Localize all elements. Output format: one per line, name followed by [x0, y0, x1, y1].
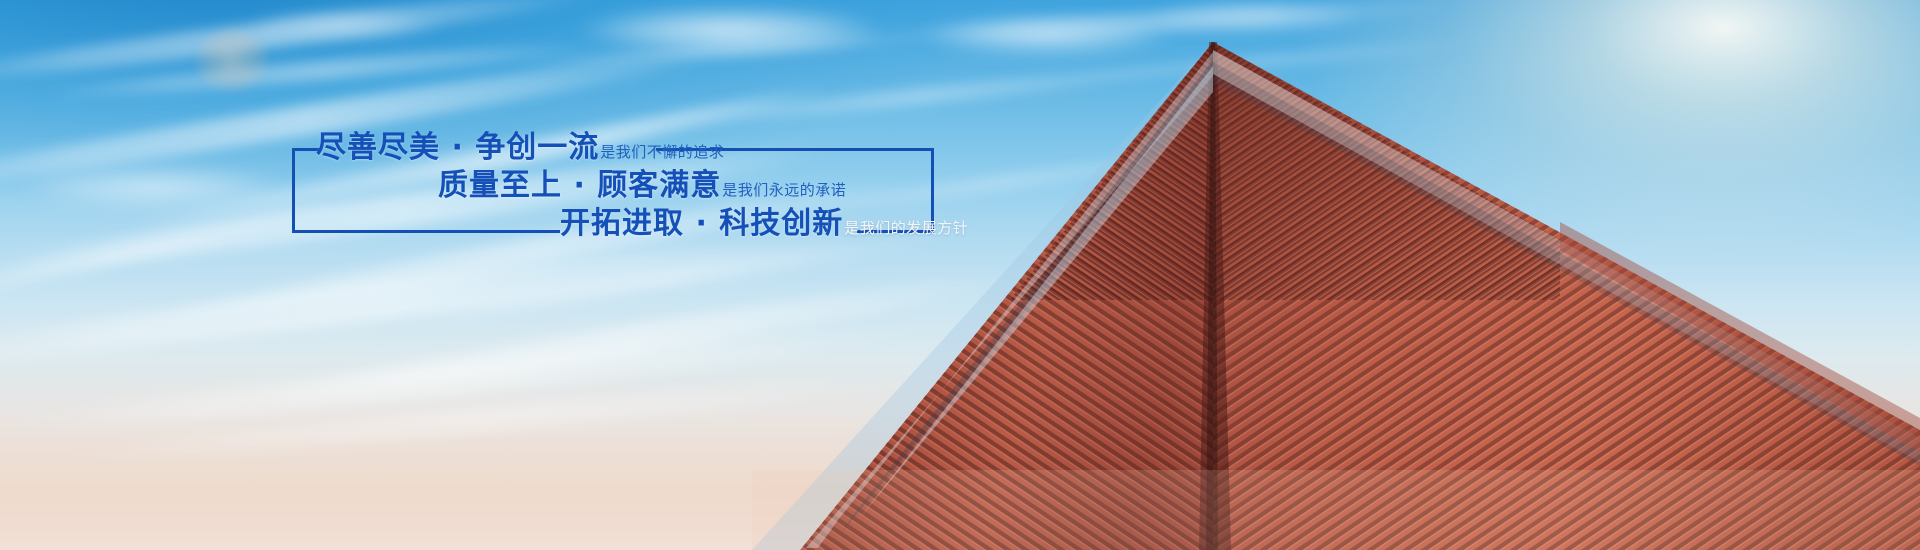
slogan-line-3-main: 开拓进取 · 科技创新 — [560, 206, 843, 241]
slogan-line-2-sub: 是我们永远的承诺 — [722, 181, 846, 199]
hero-banner: 尽善尽美 · 争创一流是我们不懈的追求 质量至上 · 顾客满意是我们永远的承诺 … — [0, 0, 1920, 550]
slogan-line-1-main: 尽善尽美 · 争创一流 — [316, 130, 599, 165]
slogan-line-2: 质量至上 · 顾客满意是我们永远的承诺 — [438, 171, 846, 201]
frame-left-edge — [292, 148, 295, 233]
frame-bottom-left-rule — [292, 230, 560, 233]
slogan-line-1-sub: 是我们不懈的追求 — [600, 143, 724, 161]
slogan-block: 尽善尽美 · 争创一流是我们不懈的追求 质量至上 · 顾客满意是我们永远的承诺 … — [292, 143, 1152, 288]
slogan-line-1: 尽善尽美 · 争创一流是我们不懈的追求 — [316, 133, 724, 163]
slogan-line-3-sub: 是我们的发展方针 — [844, 219, 968, 237]
slogan-line-2-main: 质量至上 · 顾客满意 — [438, 168, 721, 203]
slogan-line-3: 开拓进取 · 科技创新是我们的发展方针 — [560, 209, 968, 239]
